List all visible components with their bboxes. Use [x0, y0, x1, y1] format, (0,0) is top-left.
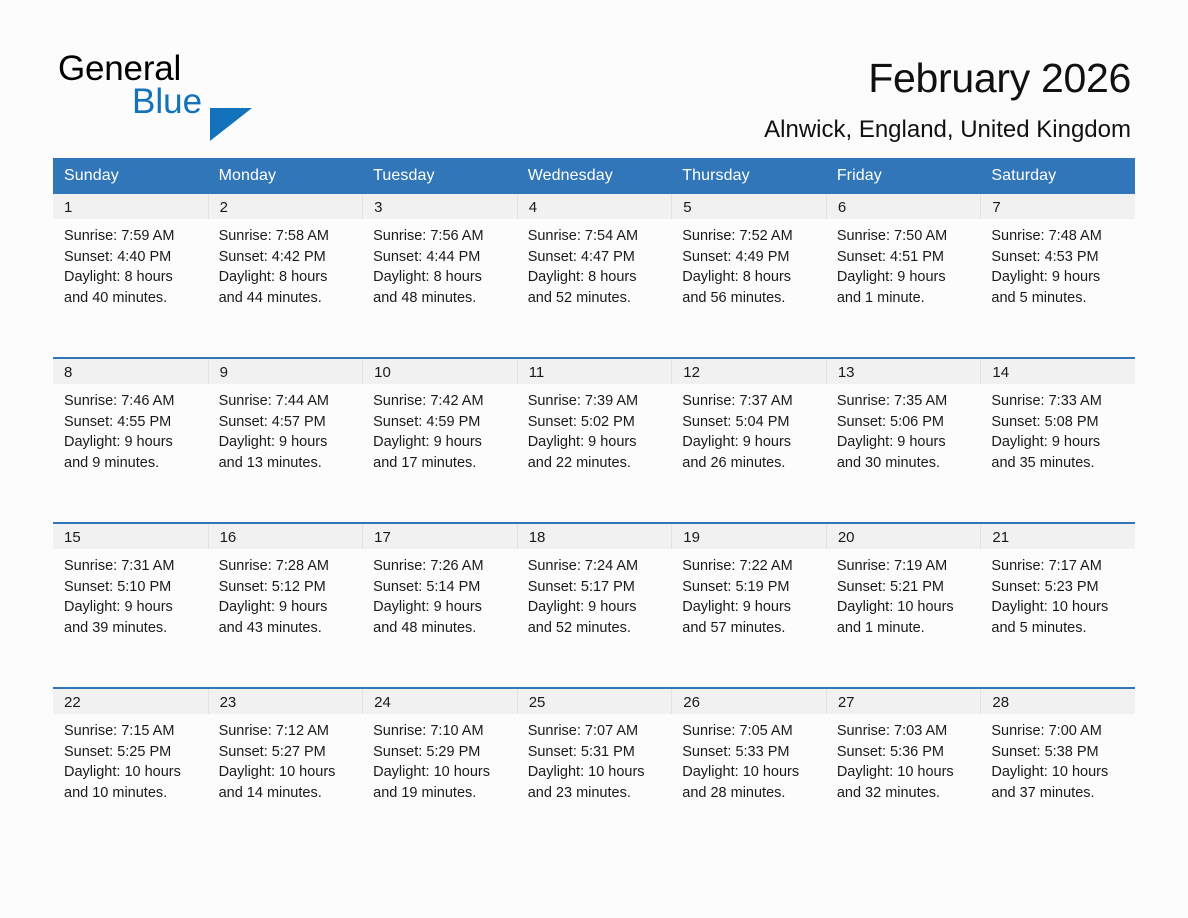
sunset-text: Sunset: 5:31 PM [528, 742, 666, 763]
daylight-text-line1: Daylight: 9 hours [373, 432, 511, 453]
sunrise-text: Sunrise: 7:00 AM [991, 721, 1129, 742]
calendar-day-cell[interactable]: 27Sunrise: 7:03 AMSunset: 5:36 PMDayligh… [826, 688, 981, 852]
calendar-day-cell[interactable]: 21Sunrise: 7:17 AMSunset: 5:23 PMDayligh… [980, 523, 1135, 688]
weekday-header-sunday: Sunday [53, 158, 208, 194]
daylight-text-line2: and 32 minutes. [837, 783, 975, 804]
daylight-text-line2: and 35 minutes. [991, 453, 1129, 474]
calendar-day-cell[interactable]: 15Sunrise: 7:31 AMSunset: 5:10 PMDayligh… [53, 523, 208, 688]
sunset-text: Sunset: 5:36 PM [837, 742, 975, 763]
sunrise-text: Sunrise: 7:35 AM [837, 391, 975, 412]
sunset-text: Sunset: 5:08 PM [991, 412, 1129, 433]
calendar-day-cell[interactable]: 1Sunrise: 7:59 AMSunset: 4:40 PMDaylight… [53, 194, 208, 358]
day-number: 28 [980, 689, 1135, 714]
day-number: 19 [671, 524, 826, 549]
calendar-day-cell[interactable]: 17Sunrise: 7:26 AMSunset: 5:14 PMDayligh… [362, 523, 517, 688]
sunrise-text: Sunrise: 7:28 AM [219, 556, 357, 577]
daylight-text-line1: Daylight: 10 hours [682, 762, 820, 783]
sunrise-text: Sunrise: 7:03 AM [837, 721, 975, 742]
day-number: 26 [671, 689, 826, 714]
calendar-day-cell[interactable]: 19Sunrise: 7:22 AMSunset: 5:19 PMDayligh… [671, 523, 826, 688]
sunrise-text: Sunrise: 7:42 AM [373, 391, 511, 412]
calendar-page: General Blue February 2026 Alnwick, Engl… [0, 0, 1188, 918]
sunset-text: Sunset: 4:57 PM [219, 412, 357, 433]
calendar-day-cell[interactable]: 10Sunrise: 7:42 AMSunset: 4:59 PMDayligh… [362, 358, 517, 523]
daylight-text-line2: and 5 minutes. [991, 618, 1129, 639]
daylight-text-line2: and 56 minutes. [682, 288, 820, 309]
day-number: 15 [53, 524, 208, 549]
day-number: 14 [980, 359, 1135, 384]
day-number: 27 [826, 689, 981, 714]
sunset-text: Sunset: 4:47 PM [528, 247, 666, 268]
calendar-day-cell[interactable]: 4Sunrise: 7:54 AMSunset: 4:47 PMDaylight… [517, 194, 672, 358]
sunset-text: Sunset: 4:44 PM [373, 247, 511, 268]
day-number: 2 [208, 194, 363, 219]
sunrise-text: Sunrise: 7:24 AM [528, 556, 666, 577]
sunrise-text: Sunrise: 7:48 AM [991, 226, 1129, 247]
sunrise-text: Sunrise: 7:37 AM [682, 391, 820, 412]
calendar-day-cell[interactable]: 11Sunrise: 7:39 AMSunset: 5:02 PMDayligh… [517, 358, 672, 523]
sunrise-text: Sunrise: 7:15 AM [64, 721, 202, 742]
daylight-text-line1: Daylight: 9 hours [64, 432, 202, 453]
sunrise-text: Sunrise: 7:59 AM [64, 226, 202, 247]
day-number: 12 [671, 359, 826, 384]
daylight-text-line2: and 43 minutes. [219, 618, 357, 639]
daylight-text-line2: and 37 minutes. [991, 783, 1129, 804]
weekday-header-tuesday: Tuesday [362, 158, 517, 194]
day-number: 5 [671, 194, 826, 219]
sunset-text: Sunset: 5:19 PM [682, 577, 820, 598]
sunset-text: Sunset: 5:38 PM [991, 742, 1129, 763]
calendar-week-row: 8Sunrise: 7:46 AMSunset: 4:55 PMDaylight… [53, 358, 1135, 523]
sunset-text: Sunset: 5:10 PM [64, 577, 202, 598]
calendar-day-cell[interactable]: 5Sunrise: 7:52 AMSunset: 4:49 PMDaylight… [671, 194, 826, 358]
daylight-text-line1: Daylight: 10 hours [528, 762, 666, 783]
weekday-header-friday: Friday [826, 158, 981, 194]
daylight-text-line1: Daylight: 8 hours [373, 267, 511, 288]
calendar-day-cell[interactable]: 26Sunrise: 7:05 AMSunset: 5:33 PMDayligh… [671, 688, 826, 852]
sunset-text: Sunset: 5:14 PM [373, 577, 511, 598]
daylight-text-line2: and 52 minutes. [528, 618, 666, 639]
sunrise-text: Sunrise: 7:05 AM [682, 721, 820, 742]
daylight-text-line2: and 5 minutes. [991, 288, 1129, 309]
sunset-text: Sunset: 5:06 PM [837, 412, 975, 433]
sunrise-text: Sunrise: 7:17 AM [991, 556, 1129, 577]
weekday-header-monday: Monday [208, 158, 363, 194]
sunset-text: Sunset: 4:51 PM [837, 247, 975, 268]
day-number: 13 [826, 359, 981, 384]
day-number: 3 [362, 194, 517, 219]
daylight-text-line1: Daylight: 9 hours [837, 432, 975, 453]
daylight-text-line1: Daylight: 9 hours [219, 432, 357, 453]
daylight-text-line1: Daylight: 9 hours [64, 597, 202, 618]
calendar-day-cell[interactable]: 18Sunrise: 7:24 AMSunset: 5:17 PMDayligh… [517, 523, 672, 688]
calendar-day-cell[interactable]: 25Sunrise: 7:07 AMSunset: 5:31 PMDayligh… [517, 688, 672, 852]
sunset-text: Sunset: 4:40 PM [64, 247, 202, 268]
daylight-text-line1: Daylight: 10 hours [991, 597, 1129, 618]
daylight-text-line1: Daylight: 8 hours [219, 267, 357, 288]
sunset-text: Sunset: 5:04 PM [682, 412, 820, 433]
day-number: 24 [362, 689, 517, 714]
sunset-text: Sunset: 5:27 PM [219, 742, 357, 763]
calendar-day-cell[interactable]: 7Sunrise: 7:48 AMSunset: 4:53 PMDaylight… [980, 194, 1135, 358]
daylight-text-line1: Daylight: 9 hours [991, 432, 1129, 453]
daylight-text-line2: and 19 minutes. [373, 783, 511, 804]
daylight-text-line2: and 10 minutes. [64, 783, 202, 804]
sunrise-text: Sunrise: 7:33 AM [991, 391, 1129, 412]
sunset-text: Sunset: 5:17 PM [528, 577, 666, 598]
daylight-text-line2: and 48 minutes. [373, 618, 511, 639]
daylight-text-line1: Daylight: 8 hours [682, 267, 820, 288]
calendar-body: 1Sunrise: 7:59 AMSunset: 4:40 PMDaylight… [53, 194, 1135, 852]
calendar-day-cell[interactable]: 23Sunrise: 7:12 AMSunset: 5:27 PMDayligh… [208, 688, 363, 852]
daylight-text-line2: and 23 minutes. [528, 783, 666, 804]
sunset-text: Sunset: 5:29 PM [373, 742, 511, 763]
daylight-text-line1: Daylight: 9 hours [528, 597, 666, 618]
calendar-day-cell[interactable]: 9Sunrise: 7:44 AMSunset: 4:57 PMDaylight… [208, 358, 363, 523]
calendar-day-cell[interactable]: 14Sunrise: 7:33 AMSunset: 5:08 PMDayligh… [980, 358, 1135, 523]
sunrise-text: Sunrise: 7:44 AM [219, 391, 357, 412]
daylight-text-line1: Daylight: 9 hours [373, 597, 511, 618]
daylight-text-line2: and 1 minute. [837, 288, 975, 309]
calendar-week-row: 22Sunrise: 7:15 AMSunset: 5:25 PMDayligh… [53, 688, 1135, 852]
day-number: 8 [53, 359, 208, 384]
sunrise-text: Sunrise: 7:56 AM [373, 226, 511, 247]
sunrise-text: Sunrise: 7:46 AM [64, 391, 202, 412]
daylight-text-line1: Daylight: 10 hours [373, 762, 511, 783]
daylight-text-line1: Daylight: 8 hours [528, 267, 666, 288]
sunset-text: Sunset: 5:23 PM [991, 577, 1129, 598]
sunrise-text: Sunrise: 7:07 AM [528, 721, 666, 742]
calendar-header-row: Sunday Monday Tuesday Wednesday Thursday… [53, 158, 1135, 194]
sunrise-text: Sunrise: 7:39 AM [528, 391, 666, 412]
calendar-day-cell[interactable]: 28Sunrise: 7:00 AMSunset: 5:38 PMDayligh… [980, 688, 1135, 852]
day-number: 4 [517, 194, 672, 219]
daylight-text-line1: Daylight: 9 hours [991, 267, 1129, 288]
daylight-text-line1: Daylight: 10 hours [64, 762, 202, 783]
daylight-text-line2: and 30 minutes. [837, 453, 975, 474]
calendar-day-cell[interactable]: 24Sunrise: 7:10 AMSunset: 5:29 PMDayligh… [362, 688, 517, 852]
daylight-text-line2: and 26 minutes. [682, 453, 820, 474]
sunset-text: Sunset: 5:25 PM [64, 742, 202, 763]
daylight-text-line1: Daylight: 9 hours [682, 597, 820, 618]
day-number: 18 [517, 524, 672, 549]
daylight-text-line2: and 52 minutes. [528, 288, 666, 309]
day-number: 17 [362, 524, 517, 549]
sunset-text: Sunset: 5:21 PM [837, 577, 975, 598]
sunset-text: Sunset: 5:02 PM [528, 412, 666, 433]
daylight-text-line1: Daylight: 10 hours [837, 762, 975, 783]
day-number: 22 [53, 689, 208, 714]
daylight-text-line1: Daylight: 10 hours [219, 762, 357, 783]
sunset-text: Sunset: 4:59 PM [373, 412, 511, 433]
calendar-day-cell[interactable]: 6Sunrise: 7:50 AMSunset: 4:51 PMDaylight… [826, 194, 981, 358]
sunrise-text: Sunrise: 7:50 AM [837, 226, 975, 247]
sunrise-text: Sunrise: 7:19 AM [837, 556, 975, 577]
day-number: 21 [980, 524, 1135, 549]
sunrise-text: Sunrise: 7:22 AM [682, 556, 820, 577]
general-blue-logo: General Blue [58, 50, 358, 130]
sunset-text: Sunset: 4:55 PM [64, 412, 202, 433]
sunrise-text: Sunrise: 7:31 AM [64, 556, 202, 577]
calendar-table: Sunday Monday Tuesday Wednesday Thursday… [53, 158, 1135, 852]
daylight-text-line1: Daylight: 9 hours [837, 267, 975, 288]
daylight-text-line2: and 57 minutes. [682, 618, 820, 639]
sunset-text: Sunset: 5:33 PM [682, 742, 820, 763]
sunrise-text: Sunrise: 7:52 AM [682, 226, 820, 247]
daylight-text-line2: and 1 minute. [837, 618, 975, 639]
page-title: February 2026 [868, 54, 1131, 102]
day-number: 16 [208, 524, 363, 549]
day-number: 7 [980, 194, 1135, 219]
weekday-header-wednesday: Wednesday [517, 158, 672, 194]
calendar-day-cell[interactable]: 20Sunrise: 7:19 AMSunset: 5:21 PMDayligh… [826, 523, 981, 688]
day-number: 1 [53, 194, 208, 219]
day-number: 23 [208, 689, 363, 714]
day-number: 25 [517, 689, 672, 714]
calendar-day-cell[interactable]: 22Sunrise: 7:15 AMSunset: 5:25 PMDayligh… [53, 688, 208, 852]
daylight-text-line2: and 28 minutes. [682, 783, 820, 804]
day-number: 10 [362, 359, 517, 384]
calendar-day-cell[interactable]: 12Sunrise: 7:37 AMSunset: 5:04 PMDayligh… [671, 358, 826, 523]
logo-triangle-icon [210, 108, 252, 141]
calendar-day-cell[interactable]: 16Sunrise: 7:28 AMSunset: 5:12 PMDayligh… [208, 523, 363, 688]
sunset-text: Sunset: 4:49 PM [682, 247, 820, 268]
day-number: 20 [826, 524, 981, 549]
weekday-header-saturday: Saturday [980, 158, 1135, 194]
daylight-text-line1: Daylight: 9 hours [682, 432, 820, 453]
logo-text-blue: Blue [132, 83, 202, 121]
calendar-day-cell[interactable]: 13Sunrise: 7:35 AMSunset: 5:06 PMDayligh… [826, 358, 981, 523]
daylight-text-line1: Daylight: 8 hours [64, 267, 202, 288]
day-number: 9 [208, 359, 363, 384]
page-header: General Blue February 2026 Alnwick, Engl… [0, 0, 1188, 150]
daylight-text-line1: Daylight: 9 hours [528, 432, 666, 453]
daylight-text-line2: and 17 minutes. [373, 453, 511, 474]
daylight-text-line2: and 44 minutes. [219, 288, 357, 309]
day-number: 11 [517, 359, 672, 384]
page-subtitle-location: Alnwick, England, United Kingdom [764, 115, 1131, 145]
daylight-text-line2: and 9 minutes. [64, 453, 202, 474]
daylight-text-line1: Daylight: 9 hours [219, 597, 357, 618]
daylight-text-line1: Daylight: 10 hours [991, 762, 1129, 783]
daylight-text-line2: and 14 minutes. [219, 783, 357, 804]
sunset-text: Sunset: 4:42 PM [219, 247, 357, 268]
calendar-day-cell[interactable]: 3Sunrise: 7:56 AMSunset: 4:44 PMDaylight… [362, 194, 517, 358]
calendar-day-cell[interactable]: 2Sunrise: 7:58 AMSunset: 4:42 PMDaylight… [208, 194, 363, 358]
sunrise-text: Sunrise: 7:10 AM [373, 721, 511, 742]
daylight-text-line2: and 48 minutes. [373, 288, 511, 309]
day-number: 6 [826, 194, 981, 219]
calendar-week-row: 1Sunrise: 7:59 AMSunset: 4:40 PMDaylight… [53, 194, 1135, 358]
daylight-text-line2: and 39 minutes. [64, 618, 202, 639]
month-calendar: Sunday Monday Tuesday Wednesday Thursday… [53, 158, 1135, 852]
sunrise-text: Sunrise: 7:26 AM [373, 556, 511, 577]
sunrise-text: Sunrise: 7:12 AM [219, 721, 357, 742]
sunrise-text: Sunrise: 7:54 AM [528, 226, 666, 247]
weekday-header-thursday: Thursday [671, 158, 826, 194]
calendar-day-cell[interactable]: 8Sunrise: 7:46 AMSunset: 4:55 PMDaylight… [53, 358, 208, 523]
daylight-text-line2: and 13 minutes. [219, 453, 357, 474]
daylight-text-line2: and 22 minutes. [528, 453, 666, 474]
sunrise-text: Sunrise: 7:58 AM [219, 226, 357, 247]
sunset-text: Sunset: 5:12 PM [219, 577, 357, 598]
sunset-text: Sunset: 4:53 PM [991, 247, 1129, 268]
daylight-text-line2: and 40 minutes. [64, 288, 202, 309]
daylight-text-line1: Daylight: 10 hours [837, 597, 975, 618]
calendar-week-row: 15Sunrise: 7:31 AMSunset: 5:10 PMDayligh… [53, 523, 1135, 688]
